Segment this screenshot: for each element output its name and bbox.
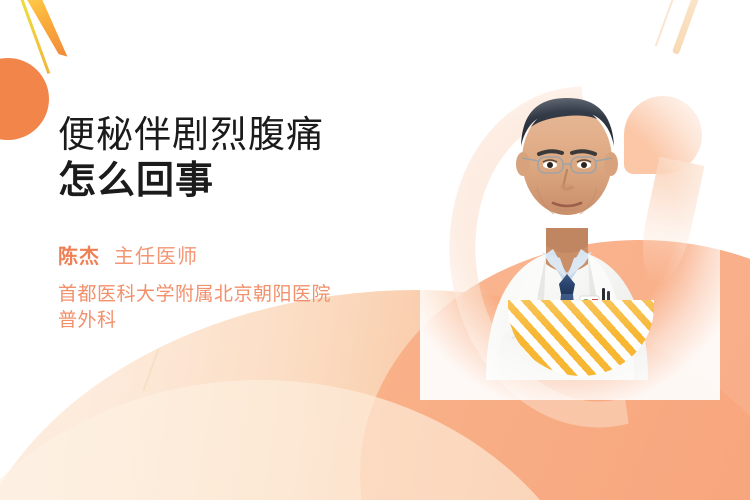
striped-half-disc xyxy=(508,300,654,376)
hairline-diagonal-accent xyxy=(143,349,160,391)
doctor-name: 陈杰 xyxy=(58,240,100,269)
doctor-rank: 主任医师 xyxy=(114,240,198,269)
circle-left-edge xyxy=(0,58,49,140)
cover-text-block: 便秘伴剧烈腹痛 怎么回事 陈杰 主任医师 首都医科大学附属北京朝阳医院 普外科 xyxy=(58,112,438,334)
ribbon-stripe-thin-top-left xyxy=(19,0,51,74)
doctor-name-row: 陈杰 主任医师 xyxy=(58,240,438,269)
ribbon-stripe-thin-top-right xyxy=(655,0,679,46)
article-title-line-1: 便秘伴剧烈腹痛 xyxy=(58,112,438,158)
department-name: 普外科 xyxy=(58,308,438,334)
ribbon-stripe-top-right xyxy=(672,0,705,55)
bottom-left-cream-wave xyxy=(0,380,610,500)
ribbon-stripe-top-left xyxy=(23,0,73,61)
doctor-affiliation: 首都医科大学附属北京朝阳医院 普外科 xyxy=(58,282,438,334)
article-title-line-2: 怎么回事 xyxy=(58,158,438,204)
health-article-cover-card: 便秘伴剧烈腹痛 怎么回事 陈杰 主任医师 首都医科大学附属北京朝阳医院 普外科 xyxy=(0,0,750,500)
hospital-name: 首都医科大学附属北京朝阳医院 xyxy=(58,282,438,308)
